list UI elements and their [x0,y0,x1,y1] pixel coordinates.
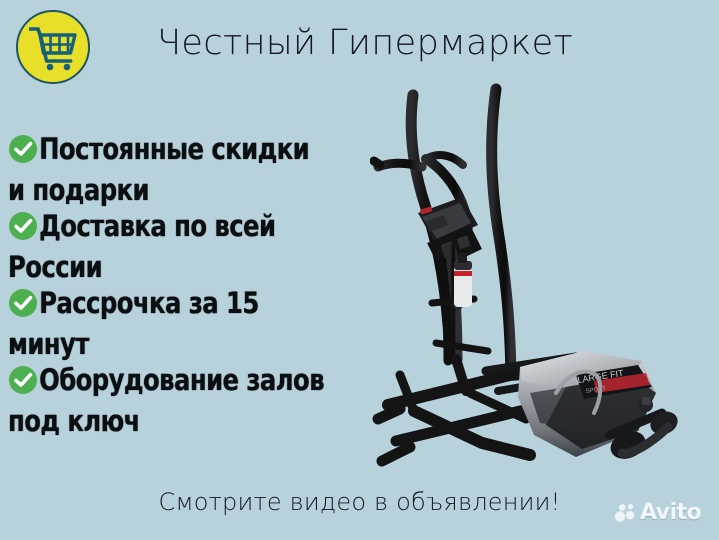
list-item-text-cont: под ключ [8,403,140,439]
check-circle-icon [8,134,38,172]
bottle-holder [454,253,472,307]
video-caption: Смотрите видео в объявлении! [0,488,719,516]
avito-dots-icon [614,502,636,524]
list-item-text-cont: и подарки [8,172,149,208]
list-item-continuation: и подарки [8,172,390,208]
list-item-continuation: под ключ [8,403,390,439]
list-item: Постоянные скидки [8,131,390,172]
shopping-cart-icon [29,25,79,71]
brand-logo-badge [16,10,90,84]
promo-banner: Честный Гипермаркет [0,0,719,540]
list-item: Доставка по всей [8,208,390,249]
avito-wordmark: Avito [640,500,701,525]
list-item-text: Доставка по всей [39,209,275,243]
avito-watermark: Avito [614,500,701,525]
list-item-continuation: минут [8,326,390,362]
list-item-text: Рассрочка за 15 [39,286,259,320]
brand-title: Честный Гипермаркет [157,17,627,69]
list-item-text: Постоянные скидки [39,132,309,166]
list-item-text-cont: России [8,249,102,285]
check-circle-icon [8,288,38,326]
check-circle-icon [8,365,38,403]
list-item-text-cont: минут [8,326,89,362]
list-item: Рассрочка за 15 [8,285,390,326]
check-circle-icon [8,211,38,249]
elliptical-trainer-image: LARGE FIT SPORT [370,75,700,490]
list-item-text: Оборудование залов [39,363,324,397]
list-item: Оборудование залов [8,362,390,403]
list-item-continuation: России [8,249,390,285]
feature-list: Постоянные скидки и подарки Доставка по … [8,131,392,439]
